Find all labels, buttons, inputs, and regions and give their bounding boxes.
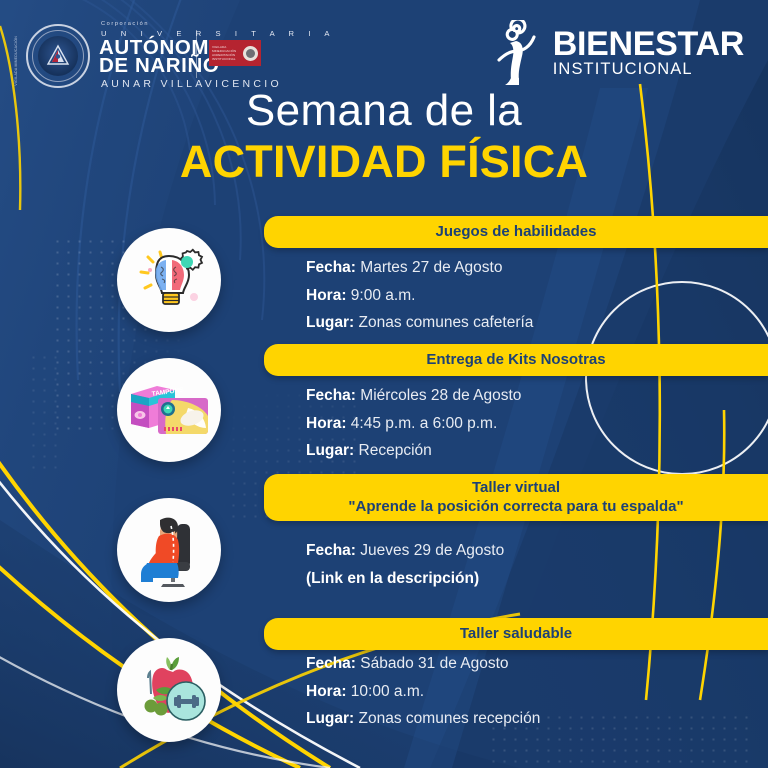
field-label: Hora: — [306, 683, 346, 700]
event-heading-subline: "Aprende la posición correcta para tu es… — [264, 497, 768, 516]
event-icon-3 — [117, 498, 221, 602]
aunar-corporacion: Corporación — [101, 22, 336, 28]
bienestar-logo: BIENESTAR INSTITUCIONAL — [487, 20, 744, 86]
field-value: Miércoles 28 de Agosto — [360, 387, 521, 404]
dot-pattern-left-edge — [28, 352, 64, 472]
event-icon-1 — [117, 228, 221, 332]
accreditation-badge: VIGILADA MINEDUCACIÓN ACREDITACIÓN INSTI… — [209, 40, 261, 66]
field-value: 9:00 a.m. — [351, 287, 416, 304]
event-icon-2: TAMPONS — [117, 358, 221, 462]
event-heading-2[interactable]: Entrega de Kits Nosotras — [264, 344, 768, 376]
event-heading-line: Taller saludable — [264, 624, 768, 643]
event-heading-4[interactable]: Taller saludable — [264, 618, 768, 650]
poster-title: Semana de la ACTIVIDAD FÍSICA — [0, 88, 768, 186]
field-value: Sábado 31 de Agosto — [360, 655, 508, 672]
field-value: 4:45 p.m. a 6:00 p.m. — [351, 415, 497, 432]
event-heading-line: Entrega de Kits Nosotras — [264, 350, 768, 369]
event-details-3: Fecha: Jueves 29 de Agosto (Link en la d… — [306, 543, 504, 598]
field-value: Martes 27 de Agosto — [360, 259, 502, 276]
vigilada-text: VIGILADA MINEDUCACIÓN — [14, 36, 18, 86]
event-field-fecha: Fecha: Miércoles 28 de Agosto — [306, 388, 521, 404]
event-details-2: Fecha: Miércoles 28 de Agosto Hora: 4:45… — [306, 388, 521, 471]
event-field-lugar: Lugar: Zonas comunes recepción — [306, 711, 540, 727]
event-field-fecha: Fecha: Sábado 31 de Agosto — [306, 656, 540, 672]
title-line2: ACTIVIDAD FÍSICA — [0, 138, 768, 187]
event-icon-4 — [117, 638, 221, 742]
field-label: Lugar: — [306, 442, 354, 459]
field-value: Zonas comunes recepción — [359, 710, 541, 727]
event-note: (Link en la descripción) — [306, 571, 504, 587]
sitting-posture-icon — [133, 510, 205, 590]
dancing-figure-spiral-icon — [487, 20, 549, 86]
field-label: Hora: — [306, 415, 346, 432]
field-label: Lugar: — [306, 314, 354, 331]
event-heading-1[interactable]: Juegos de habilidades — [264, 216, 768, 248]
event-heading-line: Taller virtual — [264, 478, 768, 497]
field-value: Zonas comunes cafetería — [359, 314, 534, 331]
event-field-lugar: Lugar: Zonas comunes cafetería — [306, 315, 533, 331]
field-label: Fecha: — [306, 655, 356, 672]
accreditation-badge-text: VIGILADA MINEDUCACIÓN ACREDITACIÓN INSTI… — [212, 45, 240, 62]
event-heading-3[interactable]: Taller virtual "Aprende la posición corr… — [264, 474, 768, 521]
ministry-seal-icon — [243, 46, 258, 61]
bienestar-line1: BIENESTAR — [553, 28, 744, 61]
event-details-1: Fecha: Martes 27 de Agosto Hora: 9:00 a.… — [306, 260, 533, 343]
field-label: Fecha: — [306, 387, 356, 404]
field-value: Recepción — [359, 442, 432, 459]
aunar-logo: VIGILADA MINEDUCACIÓN Corporación U N I … — [26, 22, 336, 90]
bienestar-line2: INSTITUCIONAL — [553, 62, 744, 78]
lightbulb-brain-gear-icon — [132, 243, 206, 317]
event-field-fecha: Fecha: Jueves 29 de Agosto — [306, 543, 504, 559]
field-label: Fecha: — [306, 542, 356, 559]
field-label: Lugar: — [306, 710, 354, 727]
university-seal-icon — [26, 24, 90, 88]
field-value: Jueves 29 de Agosto — [360, 542, 504, 559]
event-heading-line: Juegos de habilidades — [264, 222, 768, 241]
feminine-hygiene-kit-icon: TAMPONS — [128, 372, 210, 448]
field-value: 10:00 a.m. — [351, 683, 424, 700]
event-field-hora: Hora: 10:00 a.m. — [306, 684, 540, 700]
event-field-fecha: Fecha: Martes 27 de Agosto — [306, 260, 533, 276]
event-field-lugar: Lugar: Recepción — [306, 443, 521, 459]
event-field-hora: Hora: 4:45 p.m. a 6:00 p.m. — [306, 416, 521, 432]
field-label: Hora: — [306, 287, 346, 304]
title-line1: Semana de la — [0, 88, 768, 135]
field-label: Fecha: — [306, 259, 356, 276]
apple-dumbbell-icon — [131, 654, 207, 726]
poster-canvas: VIGILADA MINEDUCACIÓN Corporación U N I … — [0, 0, 768, 768]
header-divider — [196, 30, 197, 78]
event-field-hora: Hora: 9:00 a.m. — [306, 288, 533, 304]
event-details-4: Fecha: Sábado 31 de Agosto Hora: 10:00 a… — [306, 656, 540, 739]
